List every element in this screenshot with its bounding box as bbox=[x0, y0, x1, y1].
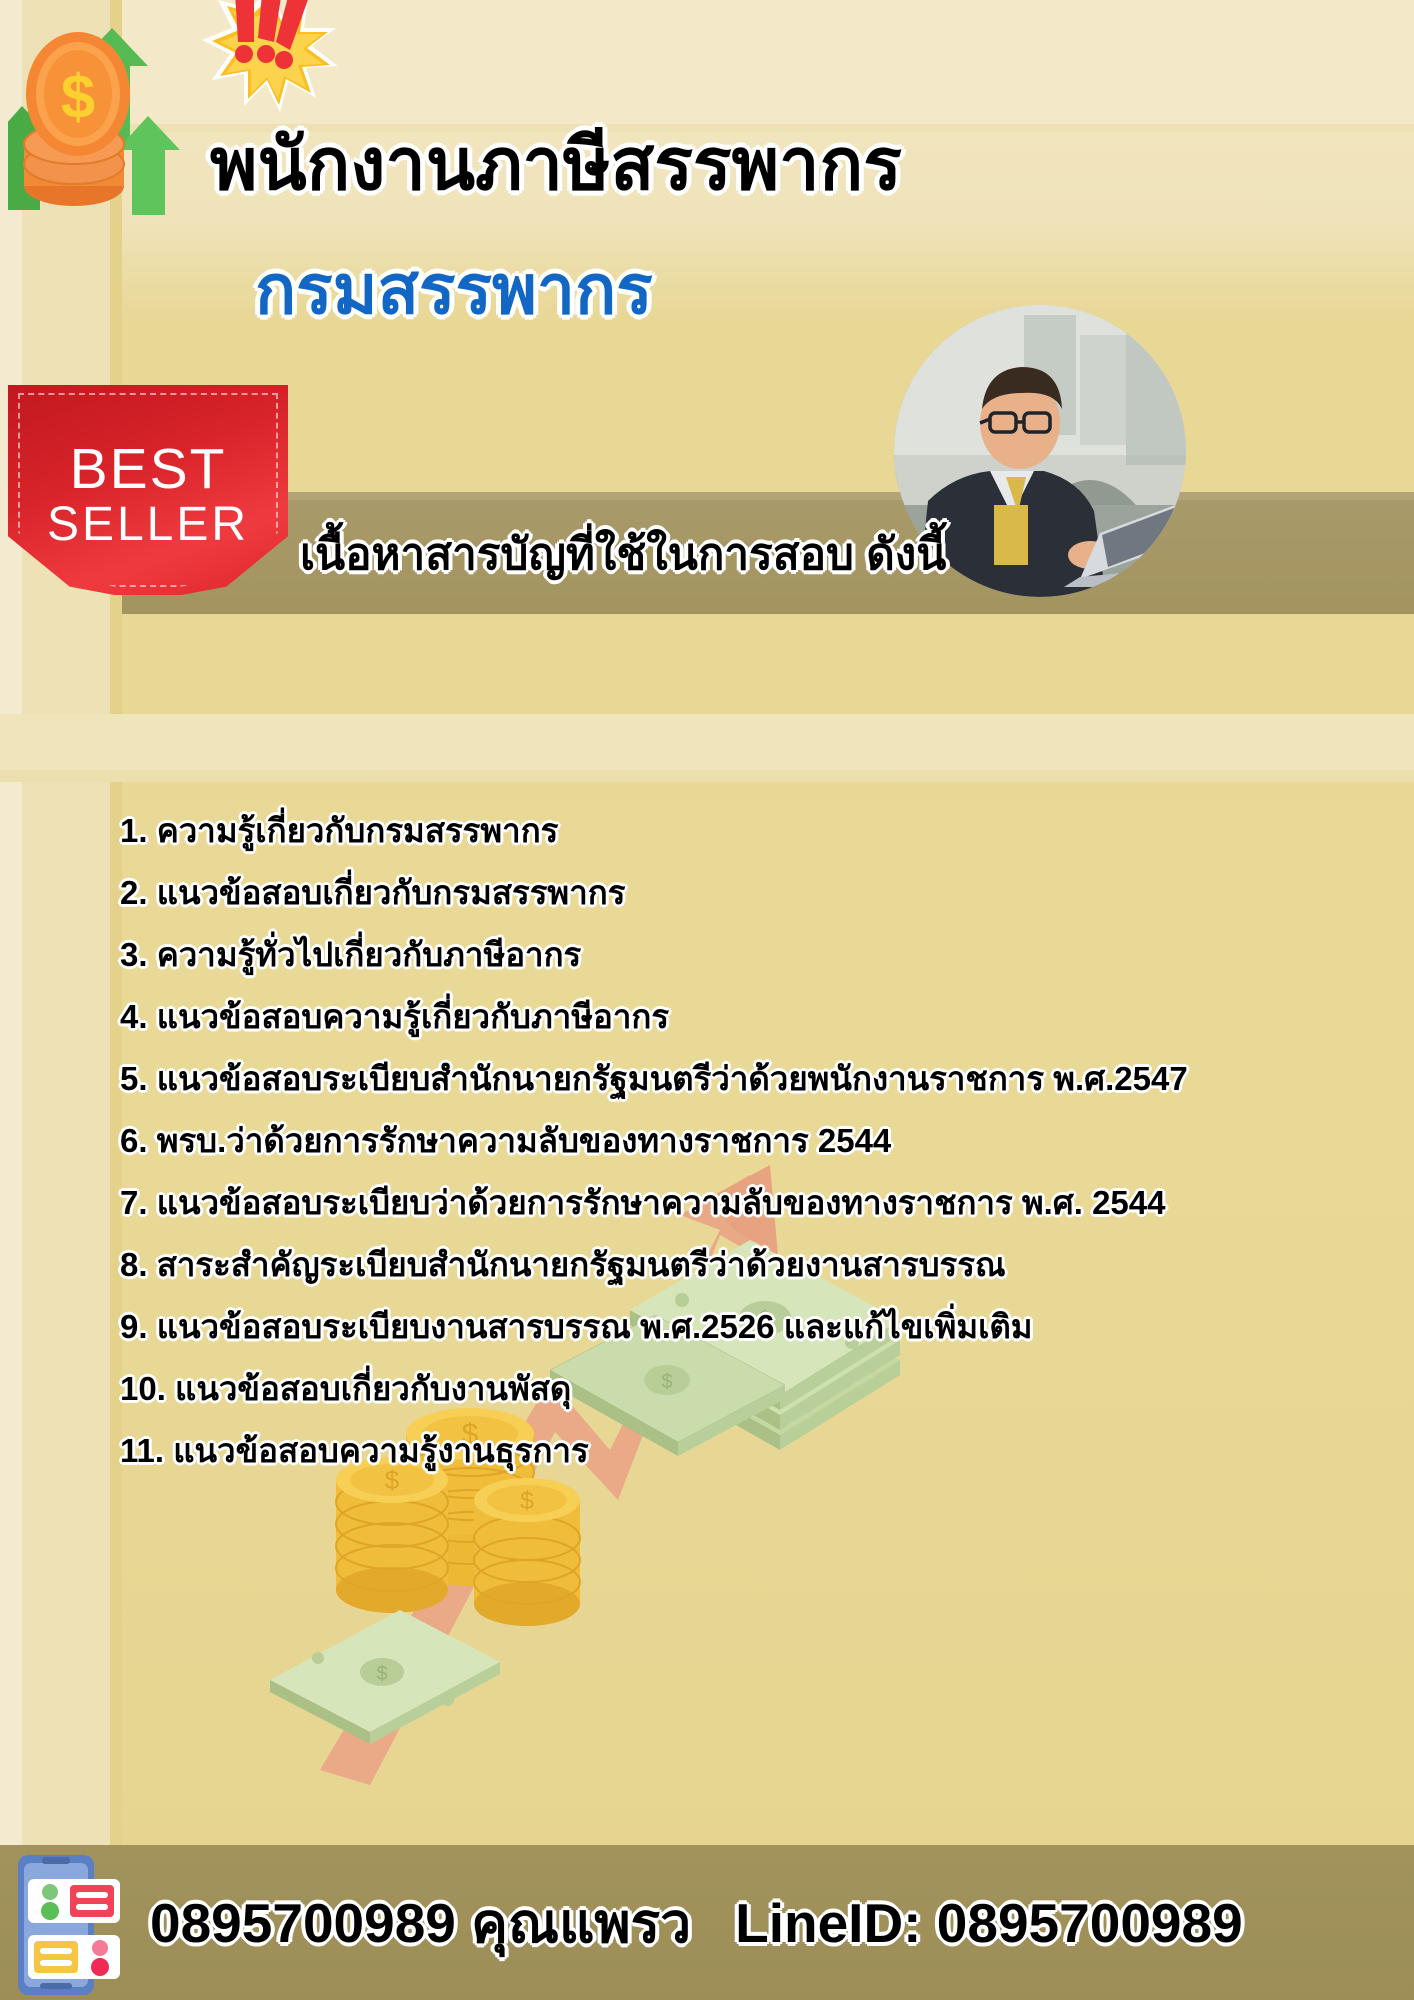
background-left-stripe-2 bbox=[22, 0, 110, 1845]
list-item: 7. แนวข้อสอบระเบียบว่าด้วยการรักษาความลั… bbox=[120, 1172, 1380, 1234]
list-item: 10. แนวข้อสอบเกี่ยวกับงานพัสดุ bbox=[120, 1358, 1380, 1420]
contact-card-icon bbox=[14, 1855, 134, 1995]
badge-seller-label: SELLER bbox=[8, 501, 288, 549]
exclamation-burst-icon bbox=[196, 0, 346, 120]
list-item: 2. แนวข้อสอบเกี่ยวกับกรมสรรพากร bbox=[120, 862, 1380, 924]
svg-text:$: $ bbox=[61, 63, 95, 132]
list-item: 9. แนวข้อสอบระเบียบงานสารบรรณ พ.ศ.2526 แ… bbox=[120, 1296, 1380, 1358]
footer-line-id: LineID: 0895700989 bbox=[735, 1892, 1243, 1954]
svg-text:$: $ bbox=[376, 1663, 387, 1685]
banner-heading: เนื้อหาสารบัญที่ใช้ในการสอบ ดังนี้ bbox=[300, 520, 1200, 590]
topic-list: 1. ความรู้เกี่ยวกับกรมสรรพากร 2. แนวข้อส… bbox=[120, 800, 1380, 1482]
list-item: 8. สาระสำคัญระเบียบสำนักนายกรัฐมนตรีว่าด… bbox=[120, 1234, 1380, 1296]
list-item: 5. แนวข้อสอบระเบียบสำนักนายกรัฐมนตรีว่าด… bbox=[120, 1048, 1380, 1110]
background-left-stripe-1 bbox=[0, 0, 22, 1845]
list-item: 11. แนวข้อสอบความรู้งานธุรการ bbox=[120, 1420, 1380, 1482]
list-item: 6. พรบ.ว่าด้วยการรักษาความลับของทางราชกา… bbox=[120, 1110, 1380, 1172]
svg-text:$: $ bbox=[520, 1487, 534, 1515]
background-mid-band-edge bbox=[0, 770, 1414, 782]
coin-growth-icon: $ bbox=[8, 10, 198, 225]
best-seller-badge: BEST SELLER bbox=[8, 385, 288, 610]
list-item: 1. ความรู้เกี่ยวกับกรมสรรพากร bbox=[120, 800, 1380, 862]
poster-subtitle: กรมสรรพากร bbox=[255, 245, 1155, 335]
background-mid-band bbox=[0, 714, 1414, 770]
list-item: 4. แนวข้อสอบความรู้เกี่ยวกับภาษีอากร bbox=[120, 986, 1380, 1048]
poster-title: พนักงานภาษีสรรพากร bbox=[210, 120, 1190, 210]
content-banner-highlight bbox=[122, 492, 1414, 500]
list-item: 3. ความรู้ทั่วไปเกี่ยวกับภาษีอากร bbox=[120, 924, 1380, 986]
footer-phone: 0895700989 คุณแพรว bbox=[150, 1892, 691, 1954]
footer-contact: 0895700989 คุณแพรวLineID: 0895700989 bbox=[150, 1878, 1410, 1968]
badge-best-label: BEST bbox=[8, 441, 288, 498]
